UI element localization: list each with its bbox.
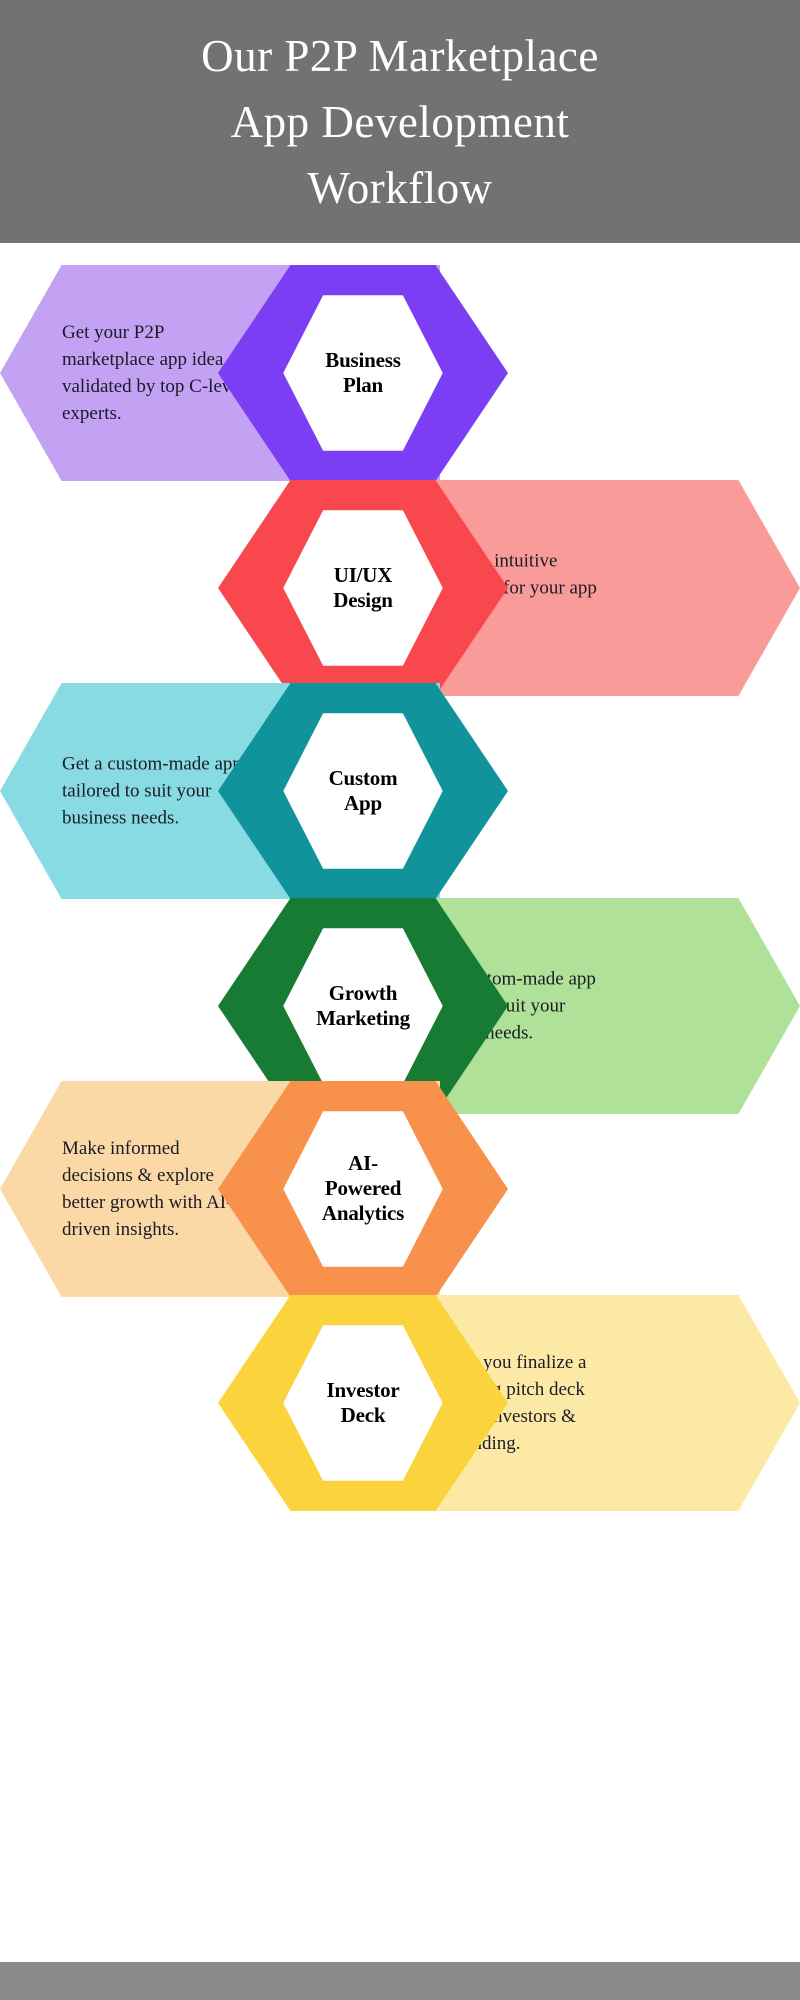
step-3-hexagon[interactable]: CustomApp	[218, 683, 508, 899]
page-title-line-3: Workflow	[307, 155, 492, 221]
step-5-title-line-1: AI-	[322, 1151, 404, 1176]
step-1-title-line-2: Plan	[325, 373, 400, 398]
step-6-hexagon[interactable]: InvestorDeck	[218, 1295, 508, 1511]
workflow-step-2[interactable]: Curate an intuitive experience for your …	[0, 480, 800, 696]
workflow-step-5[interactable]: Make informed decisions & explore better…	[0, 1081, 800, 1297]
workflow-diagram: Get your P2P marketplace app idea valida…	[0, 243, 800, 1962]
step-4-title-line-1: Growth	[316, 981, 410, 1006]
step-3-title-line-2: App	[329, 791, 398, 816]
step-2-title: UI/UXDesign	[333, 563, 392, 613]
step-6-title-line-2: Deck	[326, 1403, 399, 1428]
page-header: Our P2P Marketplace App Development Work…	[0, 0, 800, 243]
step-5-title-line-3: Analytics	[322, 1201, 404, 1226]
page-title-line-1: Our P2P Marketplace	[201, 23, 599, 89]
step-6-title-line-1: Investor	[326, 1378, 399, 1403]
step-5-title-line-2: Powered	[322, 1176, 404, 1201]
step-1-hexagon[interactable]: BusinessPlan	[218, 265, 508, 481]
step-5-hexagon[interactable]: AI-PoweredAnalytics	[218, 1081, 508, 1297]
step-3-title: CustomApp	[329, 766, 398, 816]
workflow-step-6[interactable]: We help you finalize a compelling pitch …	[0, 1295, 800, 1511]
step-1-title: BusinessPlan	[325, 348, 400, 398]
step-4-title: GrowthMarketing	[316, 981, 410, 1031]
step-4-title-line-2: Marketing	[316, 1006, 410, 1031]
step-2-hexagon[interactable]: UI/UXDesign	[218, 480, 508, 696]
step-2-title-line-1: UI/UX	[333, 563, 392, 588]
page-title-line-2: App Development	[231, 89, 570, 155]
step-3-title-line-1: Custom	[329, 766, 398, 791]
step-5-title: AI-PoweredAnalytics	[322, 1151, 404, 1226]
workflow-step-3[interactable]: Get a custom-made app tailored to suit y…	[0, 683, 800, 899]
page-footer-bar	[0, 1962, 800, 2000]
workflow-step-1[interactable]: Get your P2P marketplace app idea valida…	[0, 265, 800, 481]
step-6-title: InvestorDeck	[326, 1378, 399, 1428]
step-2-title-line-2: Design	[333, 588, 392, 613]
step-1-title-line-1: Business	[325, 348, 400, 373]
